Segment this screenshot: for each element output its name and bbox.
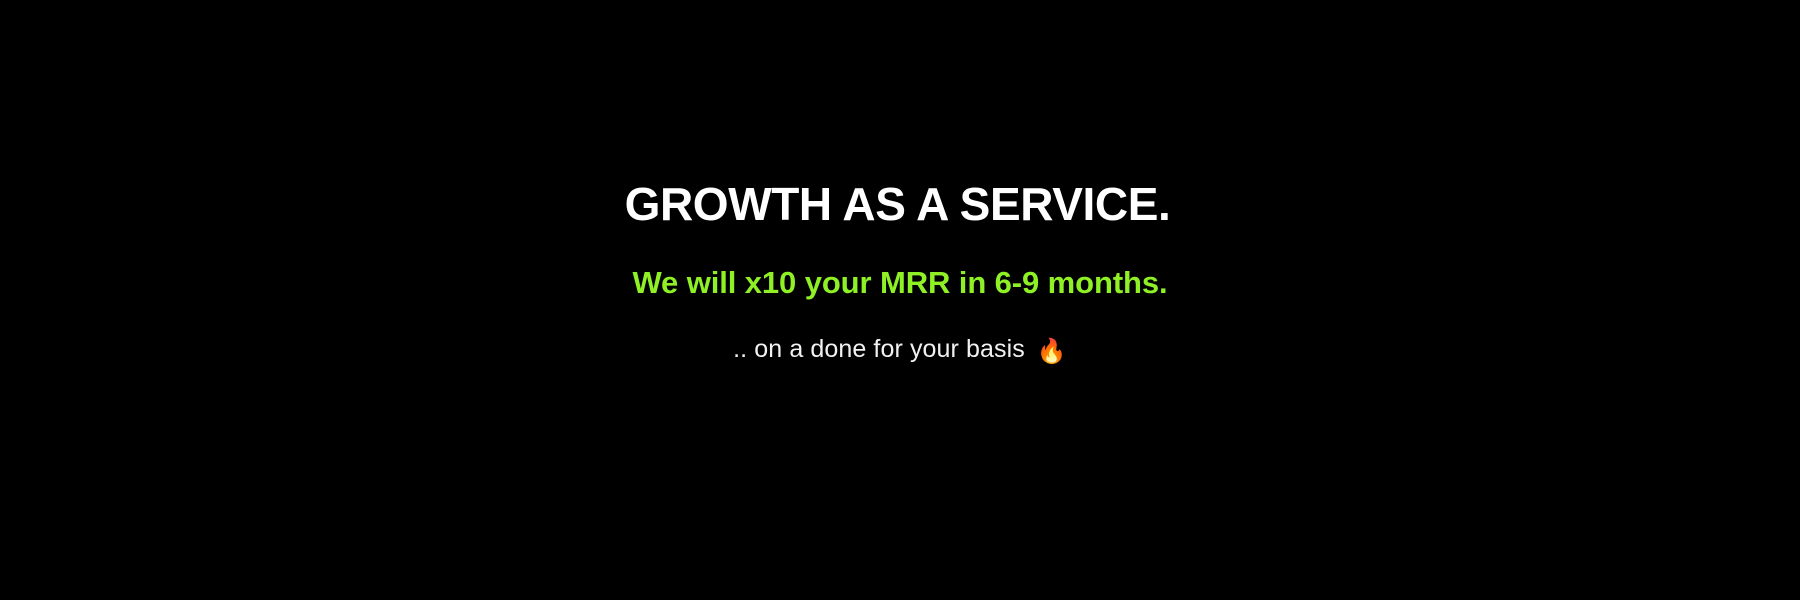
hero-section: GROWTH AS A SERVICE. We will x10 your MR… [0, 0, 1800, 600]
page-title: GROWTH AS A SERVICE. [0, 176, 1795, 232]
hero-tagline: .. on a done for your basis🔥 [0, 330, 1800, 368]
hero-tagline-text: .. on a done for your basis [733, 335, 1025, 363]
hero-subheadline: We will x10 your MRR in 6-9 months. [0, 263, 1800, 303]
fire-icon: 🔥 [1037, 340, 1067, 364]
